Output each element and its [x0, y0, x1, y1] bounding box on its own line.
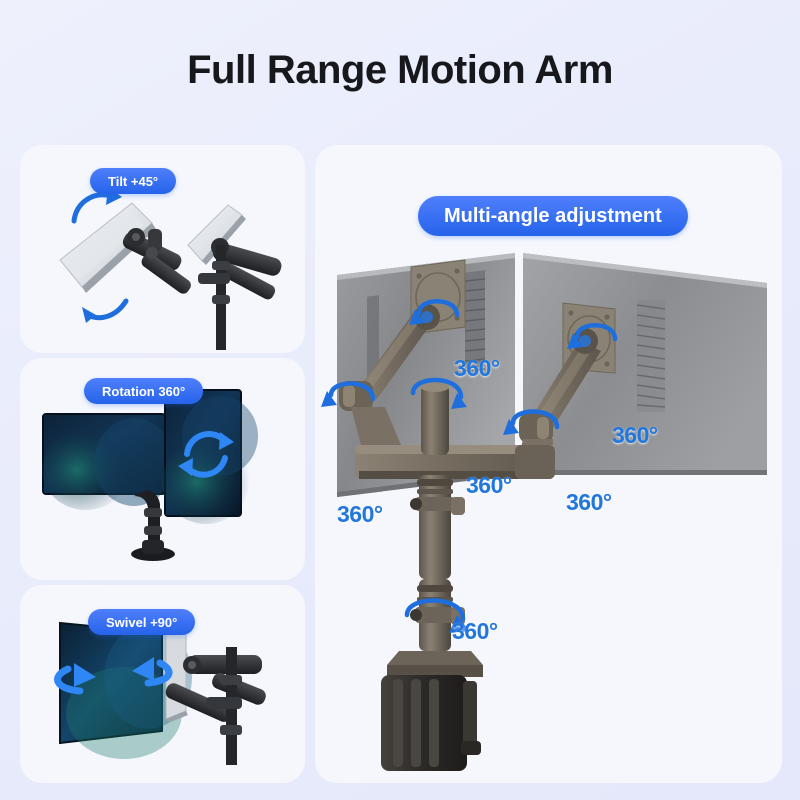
desk-clamp-base — [381, 651, 483, 771]
dual-monitor-illustration — [315, 145, 782, 783]
label-360-right-vesa: 360° — [612, 422, 658, 449]
label-360-left-vesa: 360° — [454, 355, 500, 382]
panel-main — [315, 145, 782, 783]
crossbar — [355, 445, 555, 479]
badge-swivel[interactable]: Swivel +90° — [88, 609, 195, 635]
label-360-pole: 360° — [452, 618, 498, 645]
monitor-portrait — [162, 390, 258, 524]
label-360-left-joint: 360° — [337, 501, 383, 528]
label-360-crossbar: 360° — [466, 472, 512, 499]
tilt-arm-left — [121, 228, 194, 296]
badge-tilt[interactable]: Tilt +45° — [90, 168, 176, 194]
page-title: Full Range Motion Arm — [0, 48, 800, 93]
badge-rotation[interactable]: Rotation 360° — [84, 378, 203, 404]
badge-multi-angle[interactable]: Multi-angle adjustment — [418, 196, 688, 236]
label-360-right-joint: 360° — [566, 489, 612, 516]
